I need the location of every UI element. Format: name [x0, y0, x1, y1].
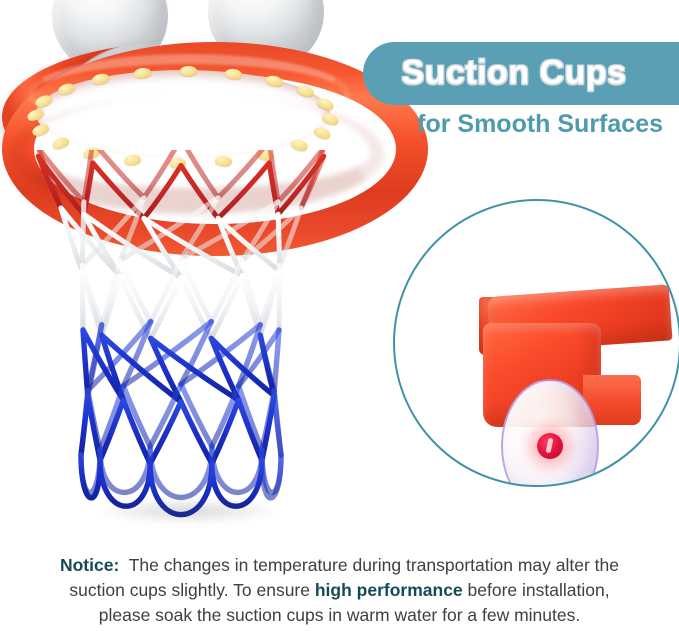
net-strand	[239, 386, 262, 450]
net-strand	[274, 396, 281, 455]
net-strand	[82, 265, 83, 330]
notice-line2-before: suction cups slightly. To ensure	[69, 580, 310, 600]
notice-line-1: Notice: The changes in temperature durin…	[0, 553, 679, 578]
closeup-scene	[395, 201, 679, 485]
headline-banner: Suction Cups	[363, 42, 679, 105]
hoop-bracket	[479, 297, 669, 431]
net-strand	[278, 214, 280, 265]
net-strand	[211, 276, 242, 339]
notice-line1-rest: The changes in temperature during transp…	[129, 555, 619, 575]
headline-title: Suction Cups	[363, 53, 665, 92]
product-contact-shadow	[95, 498, 280, 524]
net-strand	[279, 271, 280, 330]
rim-net-tab	[180, 66, 197, 76]
suction-disc-right	[639, 405, 679, 487]
notice-line2-after: before installation,	[468, 580, 610, 600]
notice-line-2: suction cups slightly. To ensure high pe…	[0, 578, 679, 603]
net-strand	[102, 276, 120, 336]
notice-emphasis: high performance	[315, 580, 463, 600]
suction-nub-left	[537, 433, 563, 459]
notice-label: Notice:	[60, 555, 119, 575]
net-strand	[81, 390, 88, 455]
product-photo	[0, 0, 375, 535]
net-strand	[239, 400, 262, 460]
notice-text: Notice: The changes in temperature durin…	[0, 553, 679, 628]
hoop-net	[0, 150, 375, 535]
net-strand	[100, 386, 123, 450]
headline-subtitle: for Smooth Surfaces	[417, 110, 663, 139]
notice-line-3: please soak the suction cups in warm wat…	[0, 603, 679, 628]
suction-cup-closeup-circle	[393, 199, 679, 487]
net-strand	[150, 446, 212, 497]
net-strand	[100, 400, 123, 460]
